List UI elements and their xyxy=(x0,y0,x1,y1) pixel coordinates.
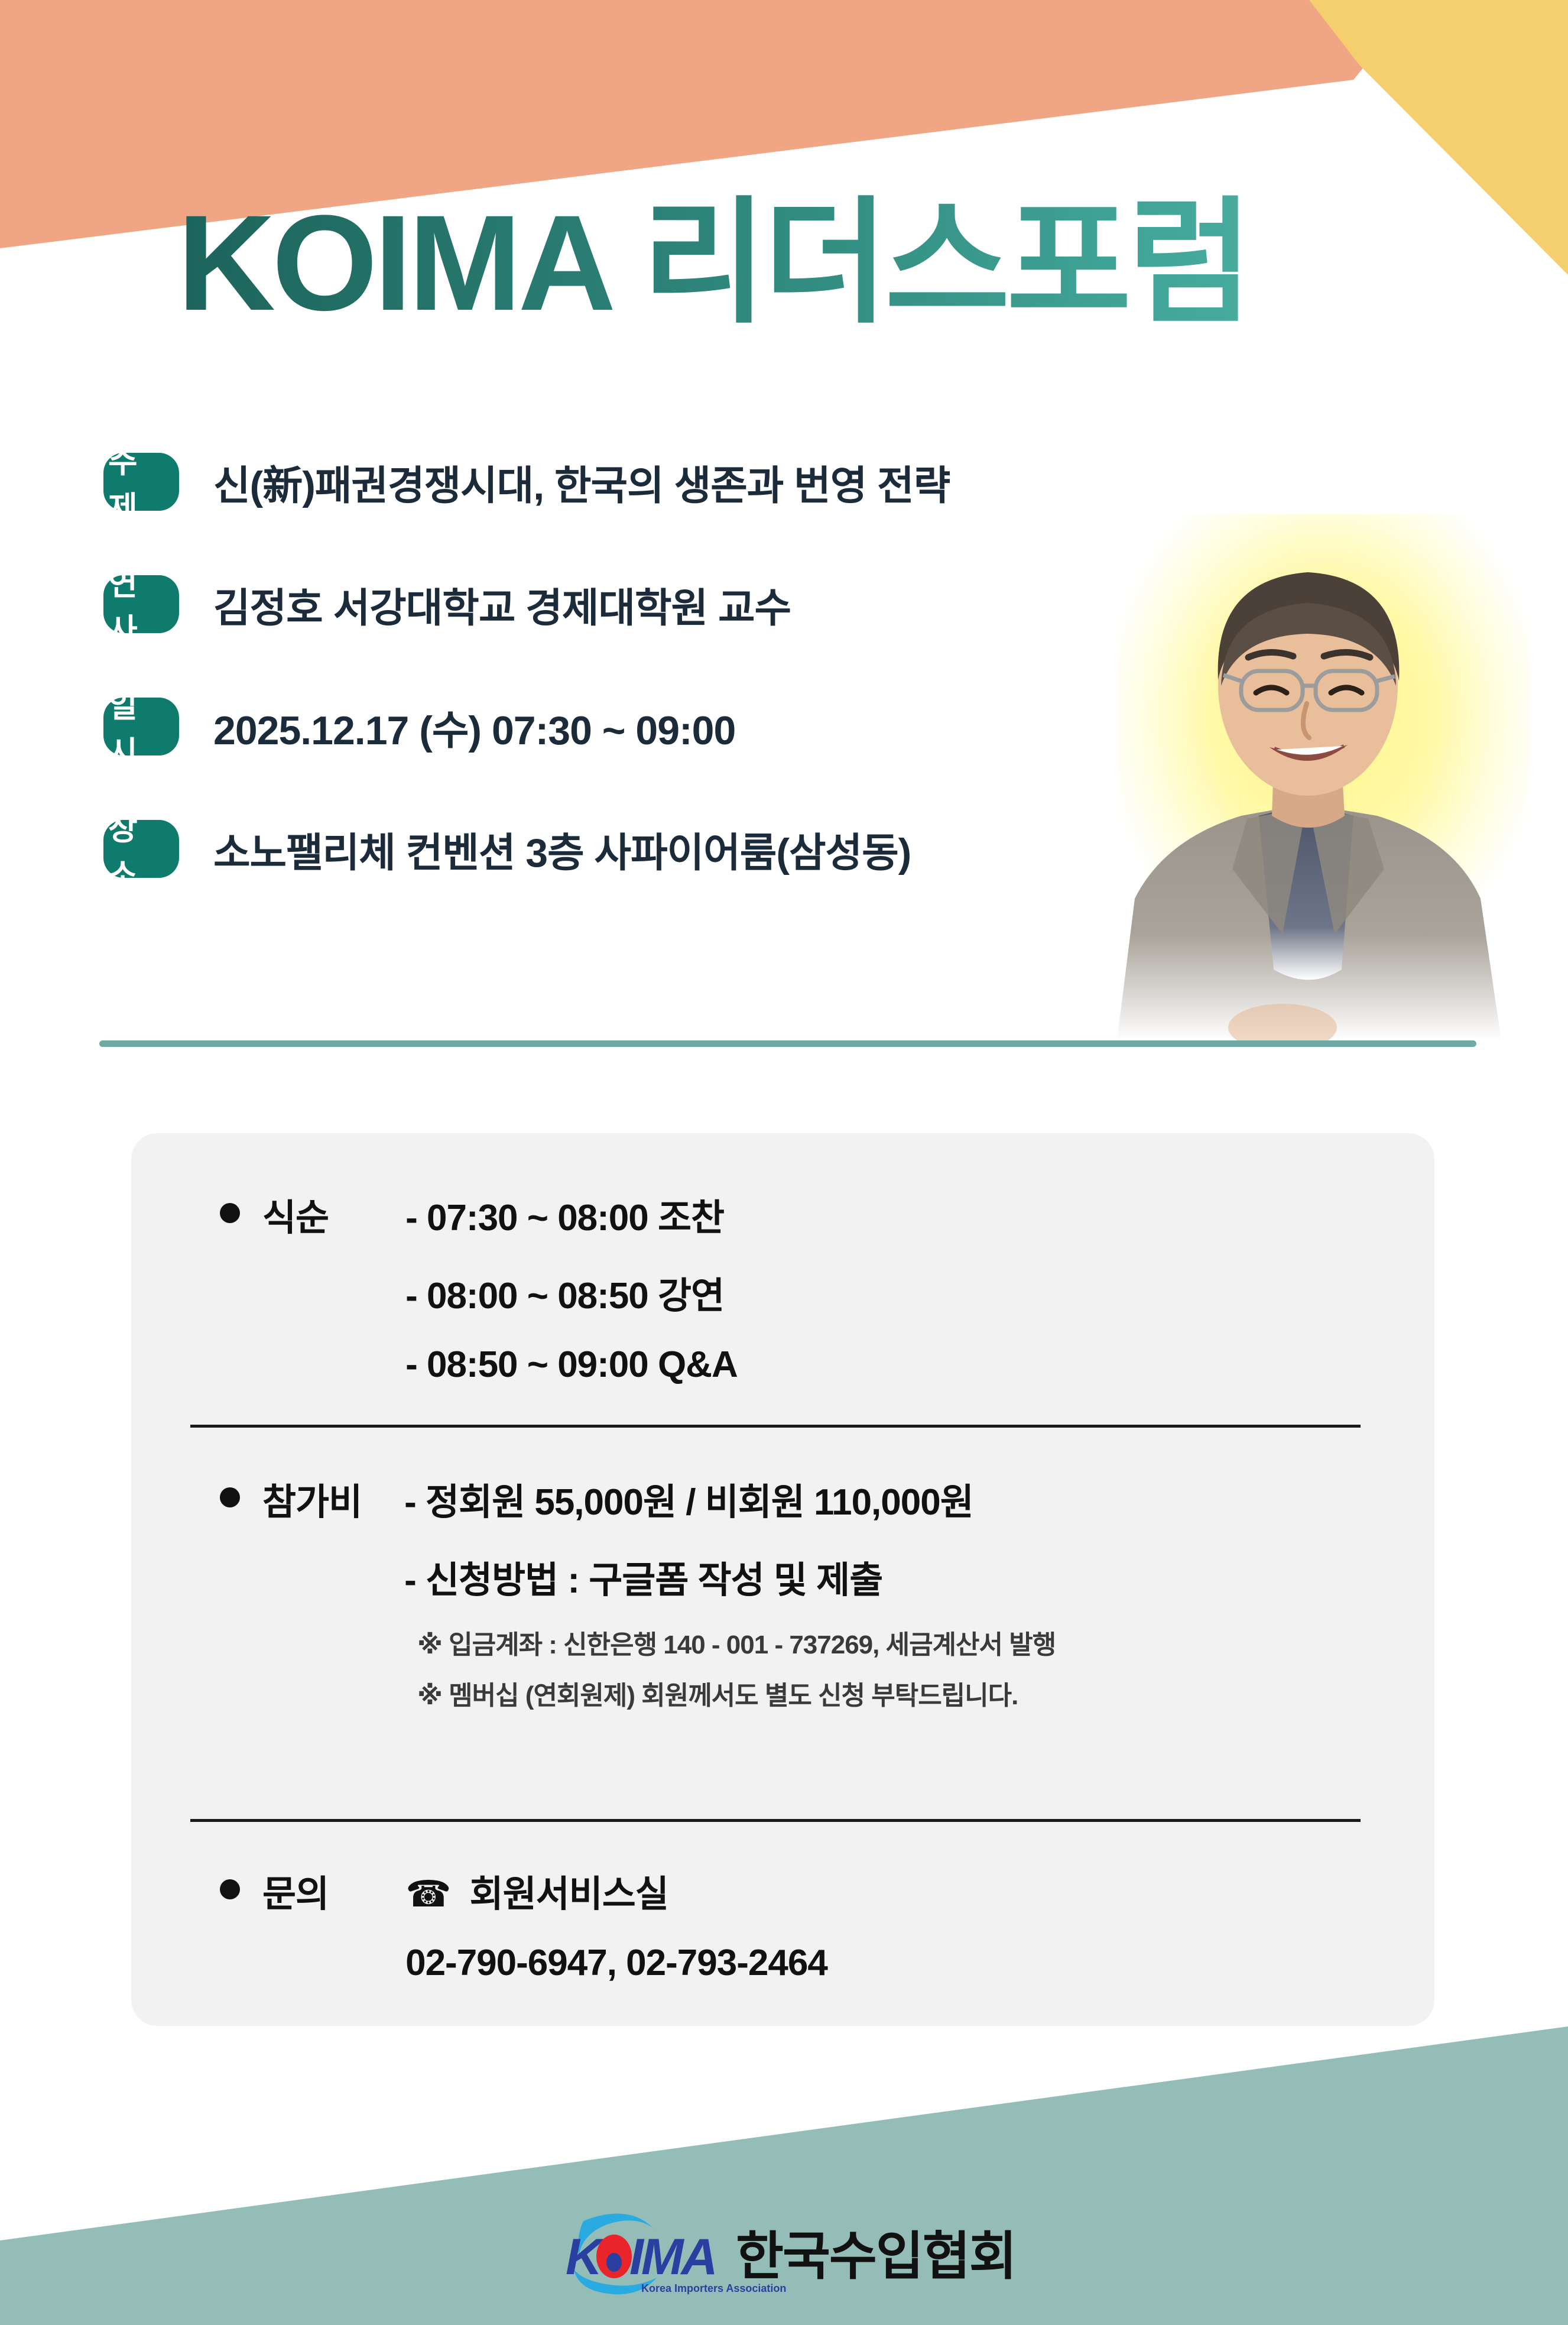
contact-office-line: ☎ 회원서비스실 xyxy=(405,1864,827,1917)
koima-logo: K IMA Korea Importers Association 한국수입협회 xyxy=(553,2208,1020,2297)
bullet-icon xyxy=(220,1879,240,1899)
program-card: 식순 - 07:30 ~ 08:00 조찬 - 08:00 ~ 08:50 강연… xyxy=(131,1133,1434,2026)
fee-block: 참가비 - 정회원 55,000원 / 비회원 110,000원 - 신청방법 … xyxy=(220,1472,1056,1725)
info-row-datetime: 일 시 2025.12.17 (수) 07:30 ~ 09:00 xyxy=(103,682,1404,771)
org-name: 한국수입협회 xyxy=(736,2227,1016,2285)
badge-subject: 주 제 xyxy=(103,453,179,511)
badge-datetime: 일 시 xyxy=(103,698,179,755)
card-divider-2 xyxy=(190,1819,1361,1822)
info-row-speaker: 연 사 김정호 서강대학교 경제대학원 교수 xyxy=(103,560,1404,648)
footer-logo: K IMA Korea Importers Association 한국수입협회 xyxy=(553,2208,1020,2297)
title-text: KOIMA 리더스포럼 xyxy=(177,195,1537,331)
badge-speaker: 연 사 xyxy=(103,575,179,633)
fee-note: ※ 입금계좌 : 신한은행 140 - 001 - 737269, 세금계산서 … xyxy=(417,1623,1056,1661)
contact-label: 문의 xyxy=(262,1864,329,1984)
poster-root: KOIMA 리더스포럼 xyxy=(0,0,1568,2325)
svg-text:IMA: IMA xyxy=(629,2229,716,2285)
card-divider-1 xyxy=(190,1425,1361,1428)
info-row-venue: 장 소 소노팰리체 컨벤션 3층 사파이어룸(삼성동) xyxy=(103,805,1404,893)
fee-label: 참가비 xyxy=(262,1472,362,1725)
program-lines: - 07:30 ~ 08:00 조찬 - 08:00 ~ 08:50 강연 - … xyxy=(405,1188,738,1386)
page-title: KOIMA 리더스포럼 xyxy=(177,195,1537,349)
contact-lines: ☎ 회원서비스실 02-790-6947, 02-793-2464 xyxy=(405,1864,827,1984)
fee-lines: - 정회원 55,000원 / 비회원 110,000원 - 신청방법 : 구글… xyxy=(404,1472,1056,1725)
program-label: 식순 xyxy=(262,1188,329,1386)
fee-line: - 정회원 55,000원 / 비회원 110,000원 xyxy=(404,1472,1056,1525)
info-row-subject: 주 제 신(新)패권경쟁시대, 한국의 생존과 번영 전략 xyxy=(103,437,1404,526)
contact-block: 문의 ☎ 회원서비스실 02-790-6947, 02-793-2464 xyxy=(220,1864,827,1984)
fee-line: - 신청방법 : 구글폼 작성 및 제출 xyxy=(404,1550,1056,1603)
badge-venue: 장 소 xyxy=(103,820,179,878)
telephone-icon: ☎ xyxy=(405,1874,450,1915)
info-value-datetime: 2025.12.17 (수) 07:30 ~ 09:00 xyxy=(213,698,735,756)
contact-phones: 02-790-6947, 02-793-2464 xyxy=(405,1942,827,1984)
section-divider-line xyxy=(99,1040,1476,1047)
info-value-venue: 소노팰리체 컨벤션 3층 사파이어룸(삼성동) xyxy=(213,820,911,878)
program-line: - 08:50 ~ 09:00 Q&A xyxy=(405,1344,738,1386)
program-line: - 08:00 ~ 08:50 강연 xyxy=(405,1266,738,1319)
bullet-icon xyxy=(220,1203,240,1223)
program-block: 식순 - 07:30 ~ 08:00 조찬 - 08:00 ~ 08:50 강연… xyxy=(220,1188,738,1386)
contact-office: 회원서비스실 xyxy=(470,1874,668,1915)
info-value-speaker: 김정호 서강대학교 경제대학원 교수 xyxy=(213,575,791,634)
event-info-list: 주 제 신(新)패권경쟁시대, 한국의 생존과 번영 전략 연 사 김정호 서강… xyxy=(103,437,1404,927)
bullet-icon xyxy=(220,1487,240,1507)
program-line: - 07:30 ~ 08:00 조찬 xyxy=(405,1188,738,1241)
fee-note: ※ 멤버십 (연회원제) 회원께서도 별도 신청 부탁드립니다. xyxy=(417,1674,1056,1712)
info-value-subject: 신(新)패권경쟁시대, 한국의 생존과 번영 전략 xyxy=(213,453,950,511)
